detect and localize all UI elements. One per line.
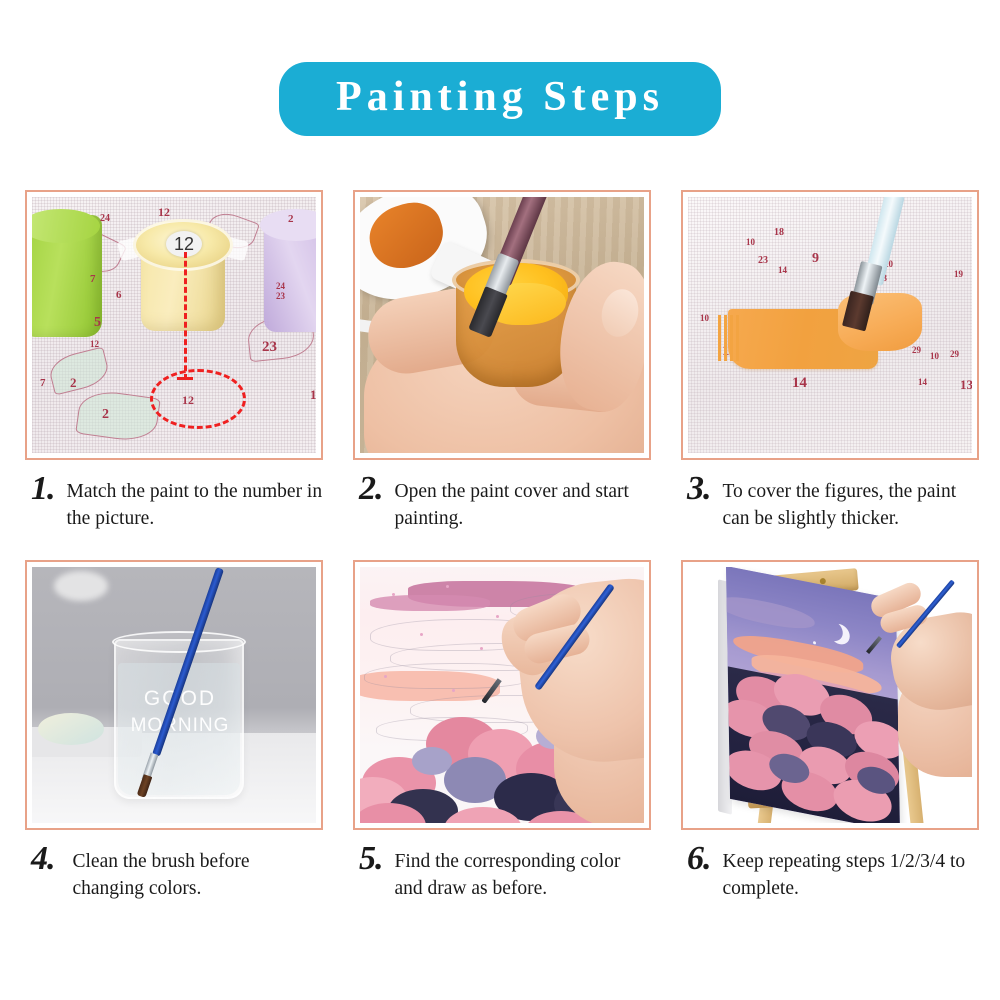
canvas-number: 10 (700, 313, 709, 323)
canvas-number: 2 (288, 213, 294, 225)
step-3-number: 3. (687, 474, 711, 504)
step-6-image-frame (681, 560, 979, 830)
star-icon (813, 641, 816, 645)
step-4-number: 4. (31, 844, 55, 874)
canvas-number: 24 (100, 213, 110, 224)
paint-pot-matching-number-photo: 12 24 2 7 6 5 2 7 2 12 23 24 23 12 (32, 197, 316, 453)
step-2-text: Open the paint cover and start painting. (395, 474, 652, 532)
painting-steps-page: Painting Steps 12 (0, 0, 1000, 1000)
step-1-image-frame: 12 24 2 7 6 5 2 7 2 12 23 24 23 12 (25, 190, 323, 460)
canvas-number: 24 (276, 281, 285, 291)
canvas-number: 7 (90, 273, 96, 285)
step-6-text: Keep repeating steps 1/2/3/4 to complete… (723, 844, 980, 902)
steps-row-1: 12 24 2 7 6 5 2 7 2 12 23 24 23 12 (25, 190, 980, 532)
canvas-marker-dot (446, 585, 449, 588)
canvas-number: 14 (918, 377, 927, 387)
canvas-marker-dot (452, 689, 455, 692)
steps-row-2: GOOD MORNING 4. Clean the brush before c… (25, 560, 980, 902)
canvas-marker-dot (480, 647, 483, 650)
finished-painting-on-easel-photo (688, 567, 972, 823)
glass-text-line-2: MORNING (124, 712, 236, 739)
step-4-caption: 4. Clean the brush before changing color… (25, 844, 323, 902)
painted-band (370, 595, 490, 611)
step-5-image-frame (353, 560, 651, 830)
canvas-number: 9 (812, 251, 819, 267)
step-2-caption: 2. Open the paint cover and start painti… (353, 474, 651, 532)
canvas-number: 12 (90, 339, 99, 349)
step-card-1: 12 24 2 7 6 5 2 7 2 12 23 24 23 12 (25, 190, 323, 532)
canvas-number: 5 (94, 315, 101, 331)
canvas-number: 29 (950, 349, 959, 359)
step-1-number: 1. (31, 474, 55, 504)
step-6-caption: 6. Keep repeating steps 1/2/3/4 to compl… (681, 844, 979, 902)
step-card-4: GOOD MORNING 4. Clean the brush before c… (25, 560, 323, 902)
canvas-number: 23 (262, 339, 277, 356)
glass-rim (112, 631, 246, 653)
blossom-shadow (412, 747, 452, 775)
step-4-text: Clean the brush before changing colors. (67, 844, 324, 902)
steps-grid: 12 24 2 7 6 5 2 7 2 12 23 24 23 12 (25, 190, 980, 902)
page-header: Painting Steps (0, 62, 1000, 136)
step-1-caption: 1. Match the paint to the number in the … (25, 474, 323, 532)
canvas-number: 14 (778, 265, 787, 275)
canvas-number: 12 (310, 387, 316, 403)
canvas-number: 2 (102, 407, 109, 423)
canvas-number: 29 (912, 345, 921, 355)
open-paint-cover-photo (360, 197, 644, 453)
canvas-number: 10 (930, 351, 939, 361)
canvas-marker-dot (420, 633, 423, 636)
thick-paint-stroke-photo: 10 18 23 9 14 20 19 13 13 10 20 14 29 10 (688, 197, 972, 453)
blurred-background-object (54, 571, 108, 601)
canvas-number: 19 (954, 269, 963, 279)
step-card-5: 5. Find the corresponding color and draw… (353, 560, 651, 902)
red-dashed-pointer-line (184, 252, 187, 380)
canvas-number: 13 (960, 377, 972, 393)
canvas-number: 6 (116, 289, 122, 301)
yellow-paint-pot: 12 (131, 215, 235, 335)
easel-peg (820, 578, 827, 585)
paint-corresponding-color-photo (360, 567, 644, 823)
background-soap (38, 713, 104, 745)
step-3-caption: 3. To cover the figures, the paint can b… (681, 474, 979, 532)
canvas-number: 14 (792, 375, 807, 392)
clean-brush-in-water-photo: GOOD MORNING (32, 567, 316, 823)
step-4-image-frame: GOOD MORNING (25, 560, 323, 830)
canvas-number: 23 (758, 255, 768, 266)
step-card-3: 10 18 23 9 14 20 19 13 13 10 20 14 29 10 (681, 190, 979, 532)
step-2-number: 2. (359, 474, 383, 504)
step-5-caption: 5. Find the corresponding color and draw… (353, 844, 651, 902)
page-title: Painting Steps (336, 76, 664, 118)
step-3-image-frame: 10 18 23 9 14 20 19 13 13 10 20 14 29 10 (681, 190, 979, 460)
highlighted-canvas-number: 12 (182, 393, 194, 408)
step-card-2: 2. Open the paint cover and start painti… (353, 190, 651, 532)
canvas-marker-dot (384, 675, 387, 678)
canvas-contour (364, 663, 536, 689)
canvas-number: 2 (70, 375, 77, 391)
step-5-number: 5. (359, 844, 383, 874)
canvas-number: 18 (774, 227, 784, 238)
step-card-6: 6. Keep repeating steps 1/2/3/4 to compl… (681, 560, 979, 902)
step-3-text: To cover the figures, the paint can be s… (723, 474, 980, 532)
red-dashed-highlight-ellipse (150, 369, 246, 429)
step-5-text: Find the corresponding color and draw as… (395, 844, 652, 902)
title-pill: Painting Steps (279, 62, 721, 136)
step-2-image-frame (353, 190, 651, 460)
canvas-marker-dot (496, 615, 499, 618)
canvas-number: 10 (746, 237, 755, 247)
canvas-number: 7 (40, 377, 46, 389)
step-6-number: 6. (687, 844, 711, 874)
canvas-number: 23 (276, 291, 285, 301)
step-1-text: Match the paint to the number in the pic… (67, 474, 324, 532)
purple-paint-pot (264, 217, 316, 332)
canvas-marker-dot (392, 593, 395, 596)
